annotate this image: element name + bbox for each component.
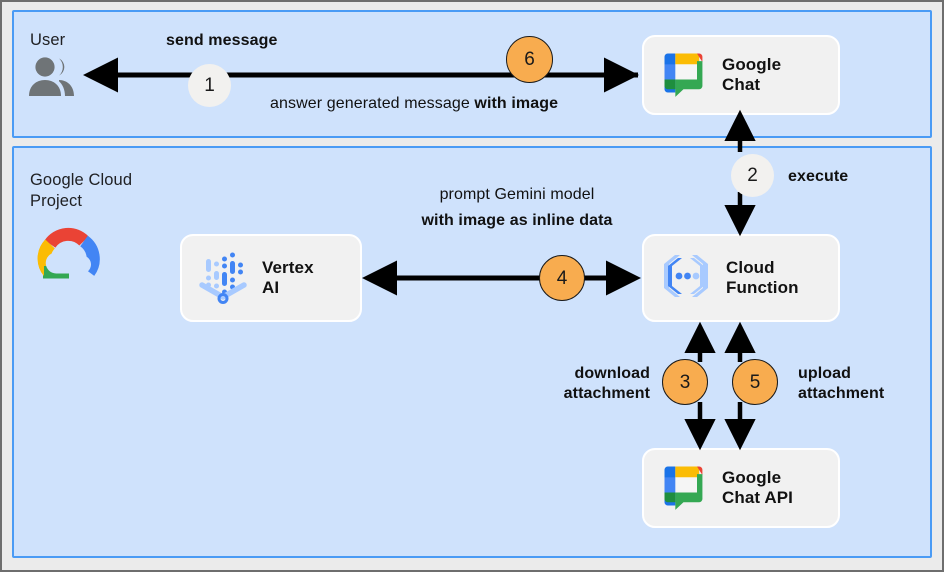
edge-label-send-message: send message [166, 31, 426, 51]
cloud-function-icon [658, 250, 714, 307]
diagram-canvas: User Google Chat Google Cloud Project [0, 0, 944, 572]
step-badge-2: 2 [731, 154, 774, 197]
node-vertex-ai[interactable]: Vertex AI [180, 234, 362, 322]
edge-label-execute: execute [788, 167, 918, 187]
edge-label-upload-attachment: upload attachment [798, 364, 944, 405]
step-badge-4: 4 [539, 255, 585, 301]
step-badge-3: 3 [662, 359, 708, 405]
vertex-ai-icon [196, 247, 250, 310]
edge-label-answer-regular: answer generated message [270, 95, 474, 112]
step-badge-5: 5 [732, 359, 778, 405]
node-cloud-function[interactable]: Cloud Function [642, 234, 840, 322]
edge-label-download-attachment: download attachment [482, 364, 650, 405]
google-chat-icon [658, 47, 710, 104]
node-google-chat[interactable]: Google Chat [642, 35, 840, 115]
edge-label-prompt-regular: prompt Gemini model [440, 186, 595, 203]
google-cloud-logo [36, 224, 104, 289]
node-google-chat-api[interactable]: Google Chat API [642, 448, 840, 528]
node-google-chat-label: Google Chat [722, 55, 781, 95]
node-vertex-ai-label: Vertex AI [262, 258, 314, 298]
user-icon [26, 56, 78, 103]
edge-label-prompt-gemini: prompt Gemini model [382, 185, 652, 205]
edge-label-answer-bold: with image [474, 95, 558, 112]
user-panel-title: User [30, 30, 65, 51]
node-cloud-function-label: Cloud Function [726, 258, 799, 298]
step-badge-1: 1 [188, 64, 231, 107]
step-badge-6: 6 [506, 36, 553, 83]
edge-label-prompt-inline-data: with image as inline data [382, 211, 652, 231]
google-chat-icon [658, 460, 710, 517]
google-cloud-project-title: Google Cloud Project [30, 170, 132, 211]
node-google-chat-api-label: Google Chat API [722, 468, 793, 508]
edge-label-answer-generated-message: answer generated message with image [270, 94, 650, 114]
